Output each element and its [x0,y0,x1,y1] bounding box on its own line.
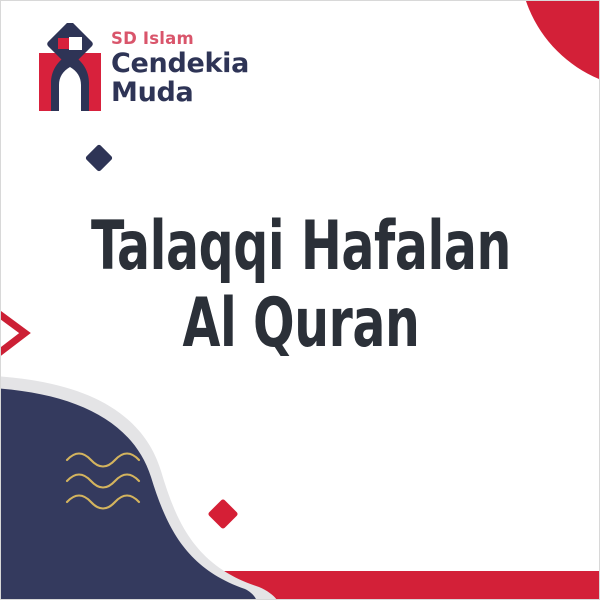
red-diamond-icon [207,498,238,529]
logo-tagline: SD Islam [111,31,249,48]
red-chevron-icon [1,311,25,356]
red-quarter-circle [519,1,600,97]
navy-diamond-icon [85,144,113,172]
mosque-dome-diamond-logo-icon [37,23,103,111]
school-logo: SD Islam Cendekia Muda [37,23,249,111]
poster-canvas: SD Islam Cendekia Muda Talaqqi Hafalan A… [0,0,600,600]
logo-name-line-1: Cendekia [111,49,249,78]
logo-wordmark: SD Islam Cendekia Muda [111,27,249,107]
logo-name-line-2: Muda [111,78,249,107]
page-title: Talaqqi Hafalan Al Quran [61,209,541,363]
